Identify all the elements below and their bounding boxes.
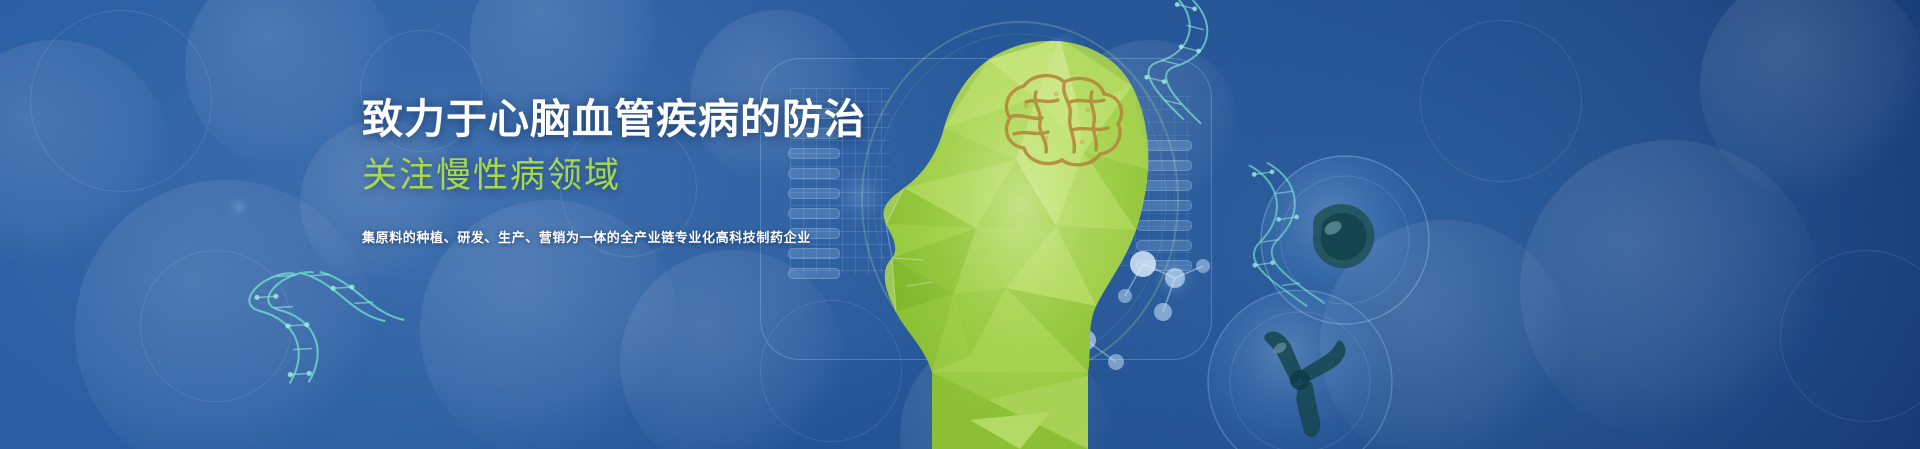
hud-grid-icon bbox=[1096, 96, 1192, 266]
bokeh-circle bbox=[1320, 220, 1570, 449]
bokeh-circle bbox=[1780, 250, 1920, 422]
bokeh-circle bbox=[140, 250, 292, 402]
bokeh-circle bbox=[30, 10, 212, 192]
bokeh-circle bbox=[228, 196, 250, 218]
bokeh-circle bbox=[1520, 140, 1820, 440]
cell-icon bbox=[1200, 290, 1400, 449]
bokeh-circle bbox=[1700, 0, 1920, 200]
dna-helix-icon bbox=[1235, 160, 1345, 314]
cell-icon bbox=[1255, 150, 1435, 334]
dna-helix-icon bbox=[255, 245, 405, 379]
bokeh-circle bbox=[1420, 20, 1582, 182]
page-title: 致力于心脑血管疾病的防治 bbox=[362, 96, 1002, 144]
page-tagline: 集原料的种植、研发、生产、营销为一体的全产业链专业化高科技制药企业 bbox=[362, 227, 1002, 246]
bokeh-circle bbox=[75, 180, 375, 449]
hero-banner: 致力于心脑血管疾病的防治 关注慢性病领域 集原料的种植、研发、生产、营销为一体的… bbox=[0, 0, 1920, 449]
page-subtitle: 关注慢性病领域 bbox=[362, 155, 1002, 197]
hero-copy: 致力于心脑血管疾病的防治 关注慢性病领域 集原料的种植、研发、生产、营销为一体的… bbox=[362, 96, 1002, 246]
bokeh-circle bbox=[0, 40, 170, 270]
